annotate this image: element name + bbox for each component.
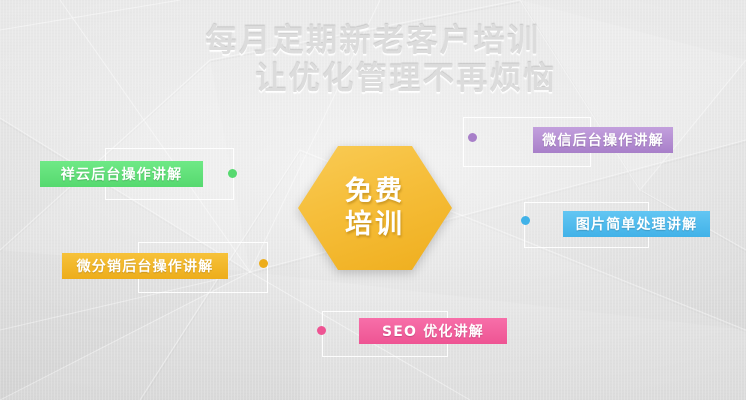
title-line-2: 让优化管理不再烦恼 [0,60,746,98]
title-line-1: 每月定期新老客户培训 [0,22,746,60]
connector-dot-seo [317,326,326,335]
label-chip-xiangyun[interactable]: 祥云后台操作讲解 [40,161,203,187]
connector-dot-weixin [468,133,477,142]
hexagon-text-line-1: 免费 [345,175,405,208]
connector-dot-weifenxiao [259,259,268,268]
label-chip-tupian[interactable]: 图片简单处理讲解 [563,211,710,237]
label-chip-seo[interactable]: SEO 优化讲解 [359,318,507,344]
poster-title: 每月定期新老客户培训 让优化管理不再烦恼 [0,22,746,98]
hexagon-text: 免费 培训 [298,146,452,270]
connector-dot-xiangyun [228,169,237,178]
promo-poster: 每月定期新老客户培训 让优化管理不再烦恼 祥云后台操作讲解 微分销后台操作讲解 … [0,0,746,400]
hexagon-text-line-2: 培训 [345,208,405,241]
label-chip-weixin[interactable]: 微信后台操作讲解 [533,127,673,153]
connector-dot-tupian [521,216,530,225]
center-hexagon[interactable]: 免费 培训 [298,146,452,270]
label-chip-weifenxiao[interactable]: 微分销后台操作讲解 [62,253,228,279]
